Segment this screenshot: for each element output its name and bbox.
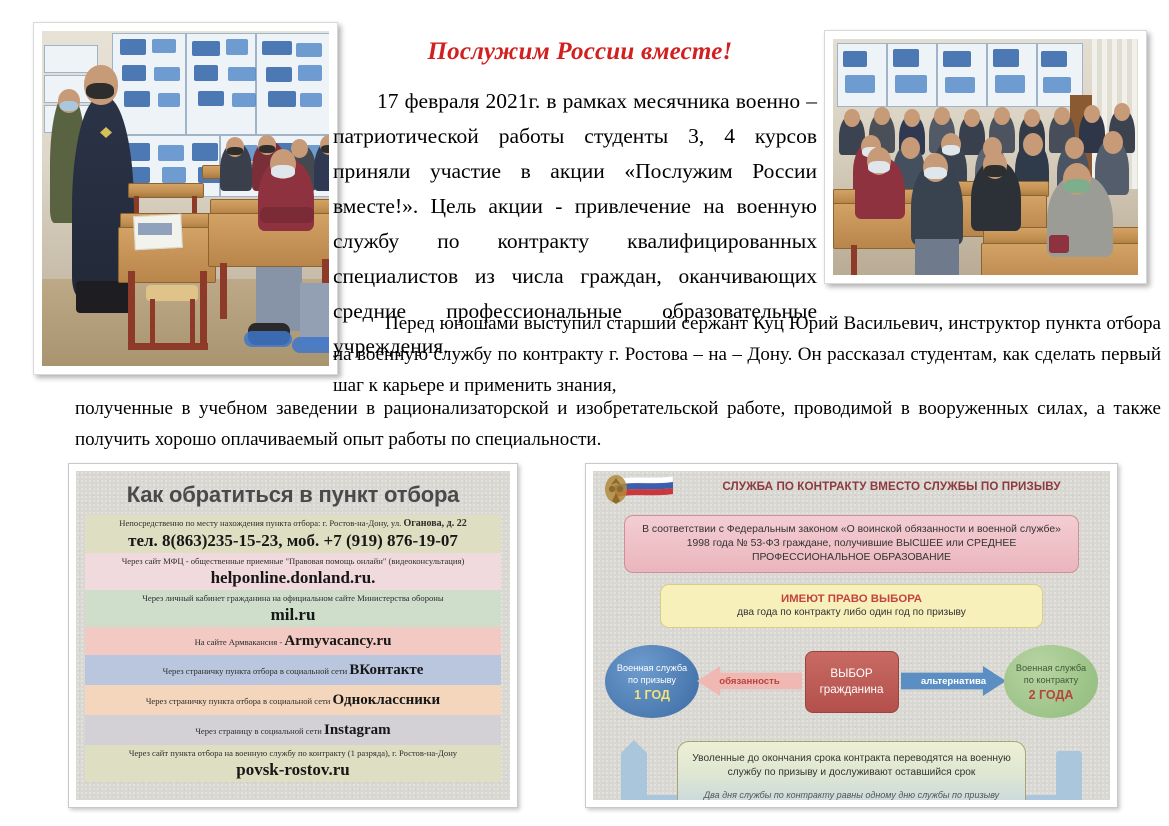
oval-conscription-term: 1 ГОД bbox=[634, 689, 670, 701]
contact-row-mil: Через личный кабинет гражданина на офици… bbox=[85, 590, 502, 627]
contact-row-mfc-label: Через сайт МФЦ - общественные приемные "… bbox=[90, 555, 497, 567]
article-paragraph-3: полученные в учебном заведении в рациона… bbox=[75, 393, 1161, 455]
contact-row-mil-value: mil.ru bbox=[90, 604, 497, 625]
poster-contract-vs-conscript: СЛУЖБА ПО КОНТРАКТУ ВМЕСТО СЛУЖБЫ ПО ПРИ… bbox=[585, 463, 1118, 808]
poster-contract-body: СЛУЖБА ПО КОНТРАКТУ ВМЕСТО СЛУЖБЫ ПО ПРИ… bbox=[593, 471, 1110, 800]
contact-row-instagram-label: Через страницу в социальной сети bbox=[195, 726, 324, 736]
contact-row-armyvacancy-label: На сайте Армвакансия - bbox=[195, 637, 285, 647]
discharge-rule-note: Два дня службы по контракту равны одному… bbox=[686, 789, 1017, 800]
right-of-choice-title: ИМЕЮТ ПРАВО ВЫБОРА bbox=[667, 592, 1036, 606]
oval-conscription-service: Военная служба по призыву 1 ГОД bbox=[605, 645, 699, 718]
document-page: Послужим России вместе! 17 февраля 2021г… bbox=[0, 0, 1169, 826]
photo-image-classroom-officer bbox=[42, 31, 329, 366]
law-reference-box: В соответствии с Федеральным законом «О … bbox=[624, 515, 1079, 573]
oval-contract-line2: по контракту bbox=[1024, 674, 1078, 686]
discharge-rule-box: Уволенные до окончания срока контракта п… bbox=[677, 741, 1026, 800]
contact-row-povsk-label: Через сайт пункта отбора на военную служ… bbox=[90, 747, 497, 759]
contact-row-povsk: Через сайт пункта отбора на военную служ… bbox=[85, 745, 502, 782]
photo-image-classroom-students bbox=[833, 39, 1138, 275]
arrow-alternative: альтернатива bbox=[901, 666, 1006, 696]
russian-flag-emblem-icon bbox=[601, 473, 675, 513]
arrow-hook-left-arm-icon bbox=[621, 795, 683, 800]
citizen-choice-box: ВЫБОР гражданина bbox=[805, 651, 899, 713]
contact-row-vk-label: Через страничку пункта отбора в социальн… bbox=[163, 666, 350, 676]
citizen-choice-line2: гражданина bbox=[820, 682, 884, 698]
oval-contract-term: 2 ГОДА bbox=[1029, 689, 1074, 701]
poster-left-title: Как обратиться в пункт отбора bbox=[76, 471, 510, 515]
contact-row-vk: Через страничку пункта отбора в социальн… bbox=[85, 655, 502, 685]
arrow-obligation: обязанность bbox=[697, 666, 802, 696]
choice-flow-diagram: Военная служба по призыву 1 ГОД обязанно… bbox=[593, 637, 1110, 737]
contact-row-mil-label: Через личный кабинет гражданина на офици… bbox=[90, 592, 497, 604]
article-paragraph-2: Перед юношами выступил старший сержант К… bbox=[333, 308, 1161, 401]
arrow-hook-left-icon bbox=[621, 751, 647, 800]
contact-row-office-value: тел. 8(863)235-15-23, моб. +7 (919) 876-… bbox=[90, 530, 497, 551]
contact-row-mfc-value: helponline.donland.ru. bbox=[90, 567, 497, 588]
arrow-hook-right-icon bbox=[1056, 751, 1082, 800]
contact-row-office-label: Непосредственно по месту нахождения пунк… bbox=[90, 517, 497, 530]
oval-contract-line1: Военная служба bbox=[1016, 662, 1086, 674]
poster-recruitment-contacts-body: Как обратиться в пункт отбора Непосредст… bbox=[76, 471, 510, 800]
right-of-choice-box: ИМЕЮТ ПРАВО ВЫБОРА два года по контракту… bbox=[660, 584, 1043, 628]
photo-classroom-students bbox=[824, 30, 1147, 284]
contact-row-vk-value: ВКонтакте bbox=[349, 662, 423, 678]
oval-contract-service: Военная служба по контракту 2 ГОДА bbox=[1004, 645, 1098, 718]
contact-row-povsk-value: povsk-rostov.ru bbox=[90, 759, 497, 780]
contact-row-ok-value: Одноклассники bbox=[333, 692, 441, 708]
poster-right-title: СЛУЖБА ПО КОНТРАКТУ ВМЕСТО СЛУЖБЫ ПО ПРИ… bbox=[679, 480, 1104, 493]
contact-row-ok-label: Через страничку пункта отбора в социальн… bbox=[146, 696, 333, 706]
citizen-choice-line1: ВЫБОР bbox=[830, 666, 872, 682]
right-of-choice-sub: два года по контракту либо один год по п… bbox=[667, 606, 1036, 620]
contact-row-office: Непосредственно по месту нахождения пунк… bbox=[85, 515, 502, 553]
contact-row-armyvacancy-value: Armyvacancy.ru bbox=[284, 633, 391, 649]
poster-right-header: СЛУЖБА ПО КОНТРАКТУ ВМЕСТО СЛУЖБЫ ПО ПРИ… bbox=[593, 471, 1110, 513]
photo-classroom-officer bbox=[33, 22, 338, 375]
discharge-rule-main: Уволенные до окончания срока контракта п… bbox=[686, 752, 1017, 780]
poster-recruitment-contacts: Как обратиться в пункт отбора Непосредст… bbox=[68, 463, 518, 808]
contact-row-mfc: Через сайт МФЦ - общественные приемные "… bbox=[85, 553, 502, 590]
oval-conscription-line1: Военная служба bbox=[617, 662, 687, 674]
contact-row-armyvacancy: На сайте Армвакансия - Armyvacancy.ru bbox=[85, 627, 502, 655]
article-title: Послужим России вместе! bbox=[350, 38, 810, 66]
contact-row-instagram-value: Instagram bbox=[324, 722, 391, 738]
arrow-hook-right-arm-icon bbox=[1020, 795, 1082, 800]
contact-row-instagram: Через страницу в социальной сети Instagr… bbox=[85, 715, 502, 745]
oval-conscription-line2: по призыву bbox=[628, 674, 676, 686]
contact-row-ok: Через страничку пункта отбора в социальн… bbox=[85, 685, 502, 715]
